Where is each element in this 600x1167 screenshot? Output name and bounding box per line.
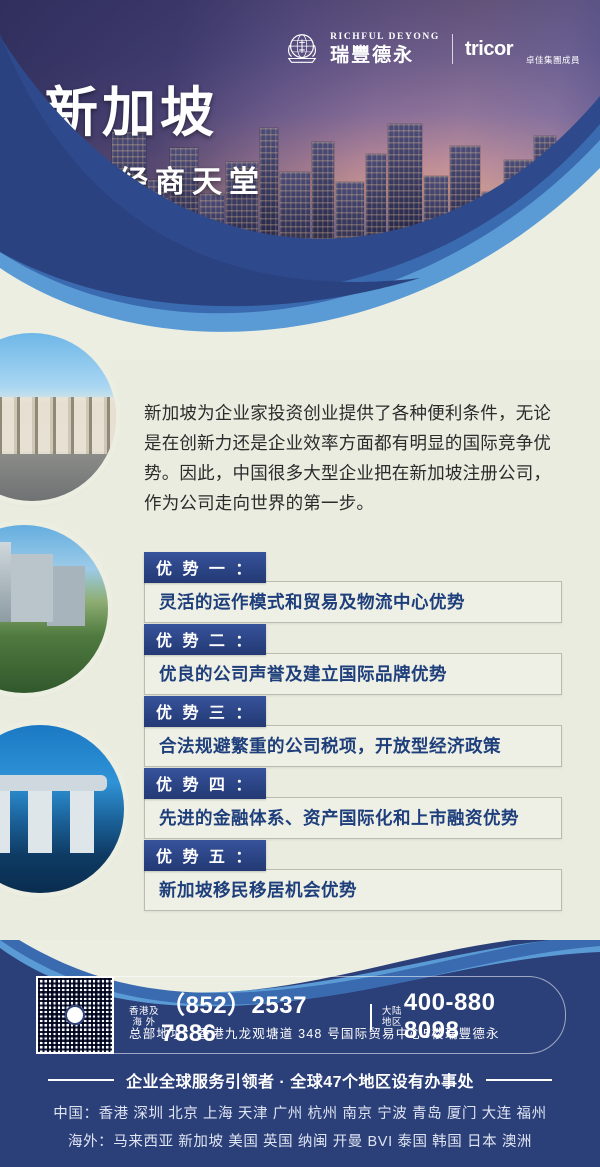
logo-chinese: 瑞豐德永 (330, 46, 440, 65)
richful-crest-icon (283, 30, 321, 68)
phone1-label-line1: 香港及 (129, 1006, 159, 1017)
regions-china: 中国：香港 深圳 北京 上海 天津 广州 杭州 南京 宁波 青岛 厦门 大连 福… (0, 1102, 600, 1123)
footer: 香港及 海 外 （852）2537 7886 大陆 地区 400-880 809… (0, 940, 600, 1167)
header-banner: RICHFUL DEYONG 瑞豐德永 tricor 卓佳集團成員 新加坡 亚洲… (0, 0, 600, 300)
advantage-item-5: 优 势 五 ： 新加坡移民移居机会优势 (144, 840, 562, 911)
waterfront (0, 254, 600, 300)
advantage-text-2: 优良的公司声誉及建立国际品牌优势 (144, 653, 562, 695)
advantage-item-1: 优 势 一 ： 灵活的运作模式和贸易及物流中心优势 (144, 552, 562, 623)
page-subtitle: 亚洲经商天堂 (44, 168, 266, 198)
poster-root: RICHFUL DEYONG 瑞豐德永 tricor 卓佳集團成員 新加坡 亚洲… (0, 0, 600, 1167)
advantage-label-3: 优 势 三 ： (144, 696, 266, 727)
logo-divider (452, 34, 453, 64)
logo-english: RICHFUL DEYONG (330, 33, 440, 43)
advantage-label-2: 优 势 二 ： (144, 624, 266, 655)
head-office-address: 总部地址：香港九龙观塘道 348 号国际贸易中心5楼瑞豐德永 (129, 1023, 551, 1042)
slogan-rule-right (486, 1079, 552, 1081)
advantage-text-4: 先进的金融体系、资产国际化和上市融资优势 (144, 797, 562, 839)
advantage-text-3: 合法规避繁重的公司税项，开放型经济政策 (144, 725, 562, 767)
advantage-label-4: 优 势 四 ： (144, 768, 266, 799)
contact-card: 香港及 海 外 （852）2537 7886 大陆 地区 400-880 809… (36, 976, 566, 1054)
tricor-wordmark: tricor (465, 38, 513, 61)
advantage-text-1: 灵活的运作模式和贸易及物流中心优势 (144, 581, 562, 623)
photo-circle-shophouse (0, 333, 116, 501)
regions-overseas: 海外：马来西亚 新加坡 美国 英国 纳闽 开曼 BVI 泰国 韩国 日本 澳洲 (0, 1130, 600, 1151)
advantage-item-3: 优 势 三 ： 合法规避繁重的公司税项，开放型经济政策 (144, 696, 562, 767)
advantage-item-4: 优 势 四 ： 先进的金融体系、资产国际化和上市融资优势 (144, 768, 562, 839)
company-slogan: 企业全球服务引领者 · 全球47个地区设有办事处 (0, 1068, 600, 1092)
advantage-item-2: 优 势 二 ： 优良的公司声誉及建立国际品牌优势 (144, 624, 562, 695)
advantage-label-5: 优 势 五 ： (144, 840, 266, 871)
brand-logo: RICHFUL DEYONG 瑞豐德永 tricor 卓佳集團成員 (283, 30, 580, 68)
page-title: 新加坡 (44, 86, 218, 140)
slogan-rule-left (48, 1079, 114, 1081)
photo-circle-greencity (0, 525, 108, 693)
intro-paragraph: 新加坡为企业家投资创业提供了各种便利条件，无论是在创新力还是企业效率方面都有明显… (144, 398, 564, 518)
slogan-text: 企业全球服务引领者 · 全球47个地区设有办事处 (126, 1068, 474, 1092)
advantage-label-1: 优 势 一 ： (144, 552, 266, 583)
photo-circle-marinabay (0, 725, 124, 893)
phone2-label-line1: 大陆 (382, 1006, 402, 1017)
wechat-qr-code[interactable] (36, 976, 114, 1054)
advantage-text-5: 新加坡移民移居机会优势 (144, 869, 562, 911)
tricor-subtitle: 卓佳集團成員 (526, 54, 580, 68)
